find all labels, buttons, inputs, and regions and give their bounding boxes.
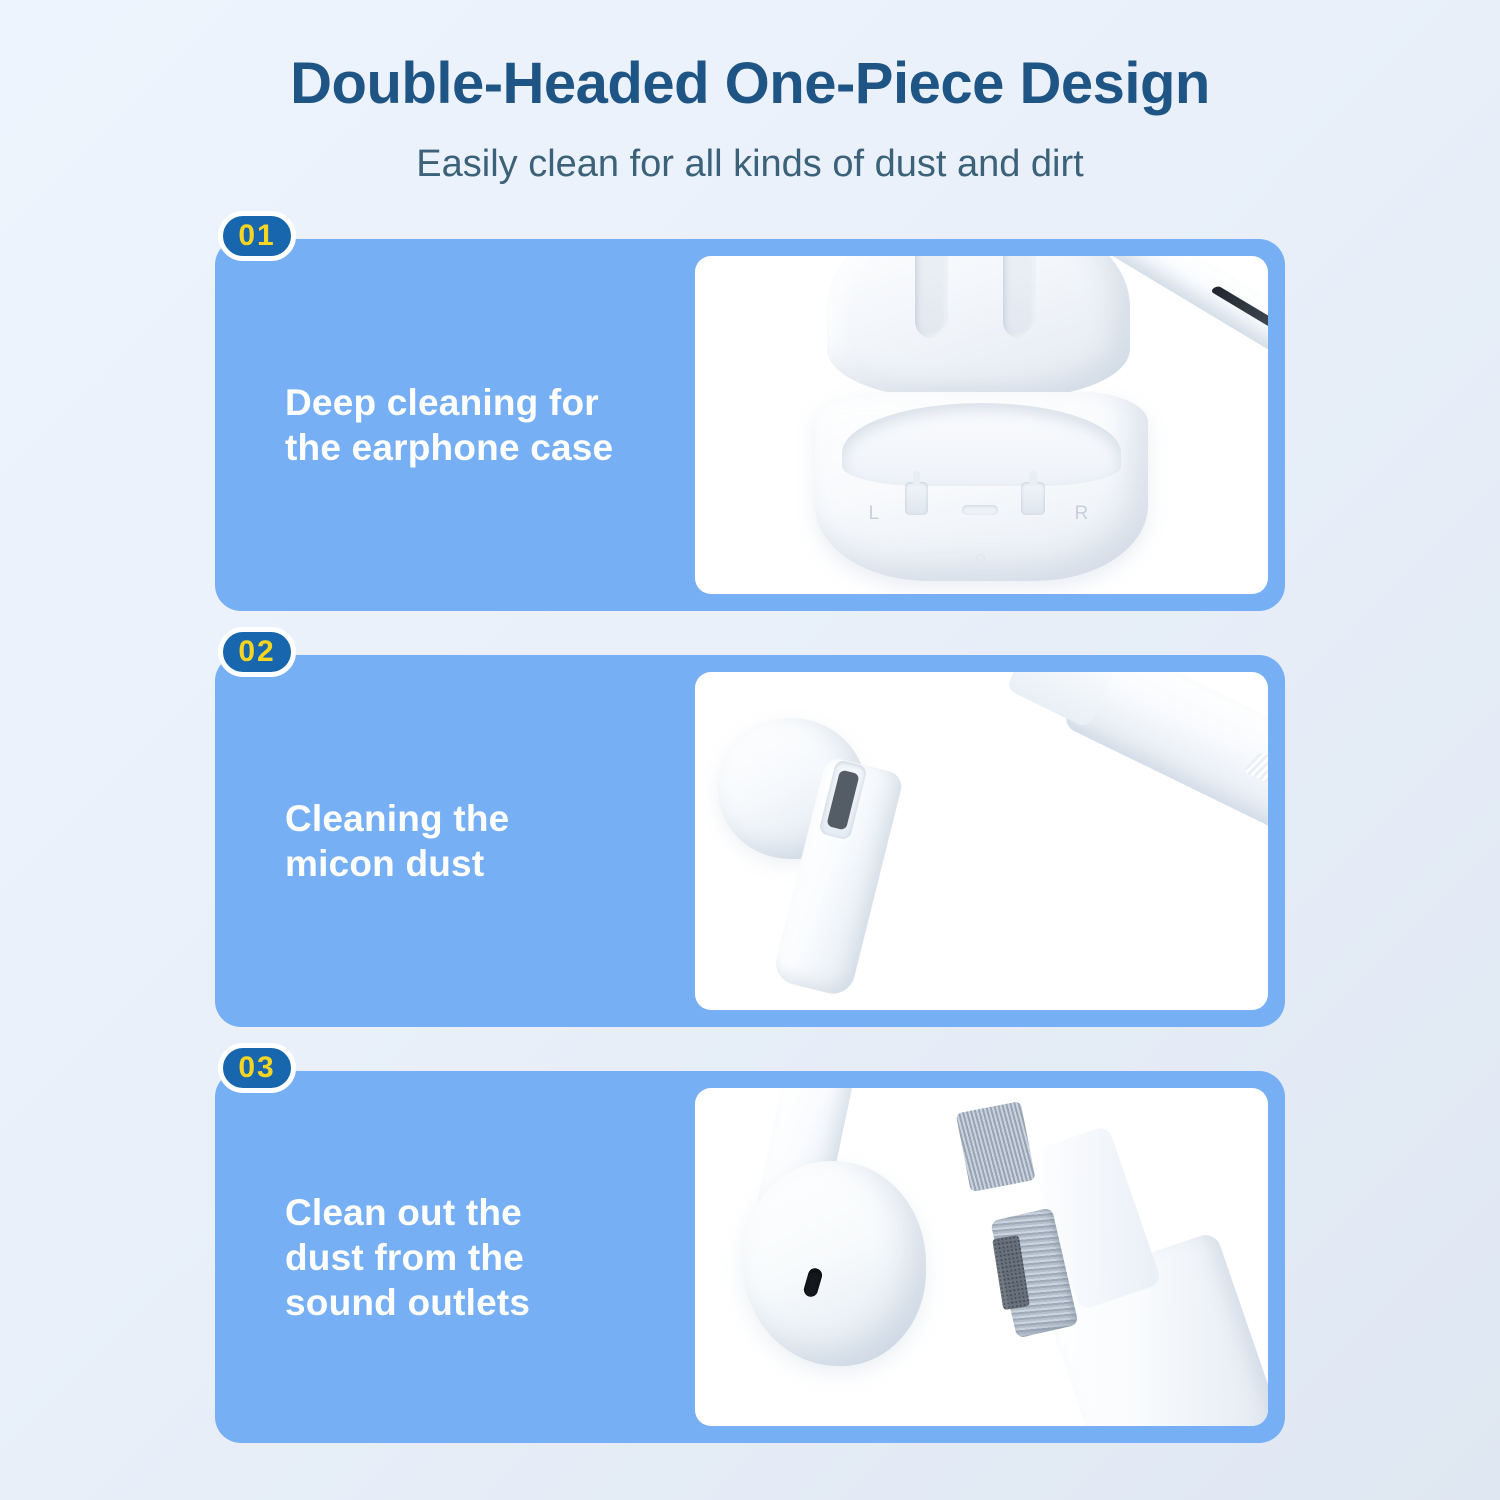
illustration-sound-outlet-cleaning bbox=[695, 1088, 1268, 1426]
case-body-icon: L R bbox=[815, 392, 1147, 581]
card-02-photo-panel bbox=[695, 672, 1268, 1010]
step-badge-03: 03 bbox=[218, 1043, 296, 1093]
brush-bristles-upper-icon bbox=[955, 1101, 1035, 1192]
card-01-caption: Deep cleaning for the earphone case bbox=[285, 380, 613, 470]
card-03-caption: Clean out the dust from the sound outlet… bbox=[285, 1190, 530, 1325]
feature-card-01-wrapper: 01 Deep cleaning for the earphone case L bbox=[215, 239, 1285, 611]
case-label-right: R bbox=[1075, 503, 1089, 525]
case-led-indicator-icon bbox=[976, 554, 985, 563]
feature-card-01[interactable]: 01 Deep cleaning for the earphone case L bbox=[215, 239, 1285, 611]
feature-card-list: 01 Deep cleaning for the earphone case L bbox=[0, 239, 1500, 1443]
lid-groove-right-icon bbox=[1003, 256, 1036, 337]
illustration-mic-cleaning bbox=[695, 672, 1268, 1010]
card-03-text-area: Clean out the dust from the sound outlet… bbox=[215, 1071, 695, 1443]
page-title: Double-Headed One-Piece Design bbox=[0, 52, 1500, 116]
feature-card-02[interactable]: 02 Cleaning the micon dust bbox=[215, 655, 1285, 1027]
charging-pin-left-icon bbox=[905, 482, 928, 514]
charging-pin-right-icon bbox=[1021, 482, 1044, 514]
feature-card-03[interactable]: 03 Clean out the dust from the sound out… bbox=[215, 1071, 1285, 1443]
pen-metal-scraper-icon bbox=[1209, 286, 1268, 342]
illustration-earphone-case: L R bbox=[695, 256, 1268, 594]
card-01-text-area: Deep cleaning for the earphone case bbox=[215, 239, 695, 611]
step-badge-01: 01 bbox=[218, 211, 296, 261]
step-badge-02: 02 bbox=[218, 627, 296, 677]
case-cavity-icon bbox=[842, 403, 1121, 486]
brush-grip-ridges-icon bbox=[1242, 751, 1268, 795]
card-03-photo-panel bbox=[695, 1088, 1268, 1426]
card-01-photo-panel: L R bbox=[695, 256, 1268, 594]
case-lid-icon bbox=[827, 256, 1131, 398]
earbud-icon bbox=[718, 713, 1039, 983]
page-header: Double-Headed One-Piece Design Easily cl… bbox=[0, 0, 1500, 187]
card-02-caption: Cleaning the micon dust bbox=[285, 796, 509, 886]
feature-card-03-wrapper: 03 Clean out the dust from the sound out… bbox=[215, 1071, 1285, 1443]
card-02-text-area: Cleaning the micon dust bbox=[215, 655, 695, 1027]
case-center-nub-icon bbox=[962, 505, 999, 514]
lid-groove-left-icon bbox=[915, 256, 948, 337]
sound-outlet-icon bbox=[802, 1266, 823, 1297]
page-subtitle: Easily clean for all kinds of dust and d… bbox=[0, 142, 1500, 188]
feature-card-02-wrapper: 02 Cleaning the micon dust bbox=[215, 655, 1285, 1027]
case-label-left: L bbox=[869, 503, 880, 525]
